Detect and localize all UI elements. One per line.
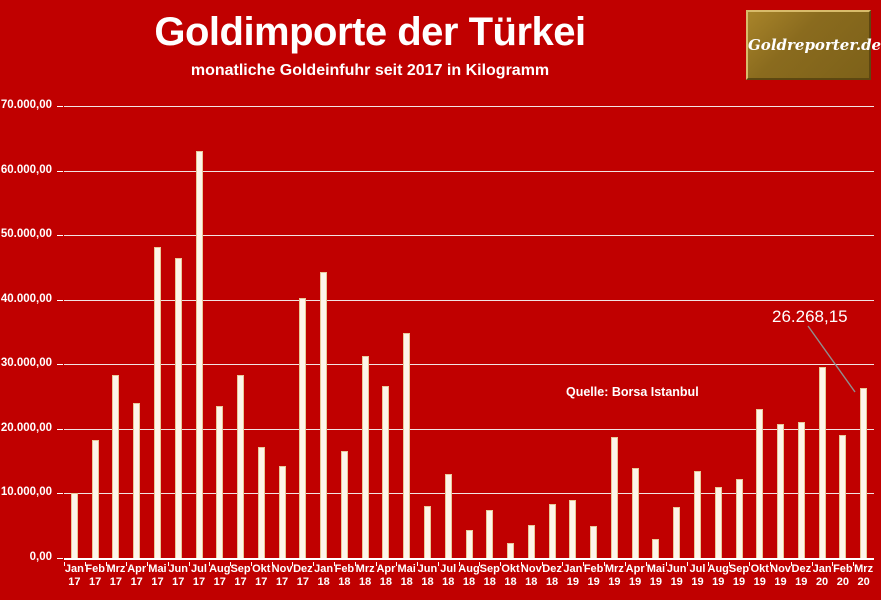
bar	[279, 466, 286, 558]
bar	[507, 543, 514, 558]
y-axis-tick	[57, 493, 63, 494]
x-axis-line	[64, 558, 874, 560]
bar	[549, 504, 556, 558]
bar	[569, 500, 576, 558]
y-axis-tick-label: 30.000,00	[0, 357, 52, 369]
gridline	[64, 364, 874, 365]
bar	[486, 510, 493, 558]
x-label-month: Mrz	[850, 563, 878, 576]
bar	[632, 468, 639, 558]
bar	[424, 506, 431, 558]
y-axis-tick	[57, 429, 63, 430]
bar	[839, 435, 846, 558]
bar	[258, 447, 265, 558]
bar	[216, 406, 223, 558]
bar	[756, 409, 763, 558]
bar	[362, 356, 369, 558]
gridline	[64, 171, 874, 172]
bar	[133, 403, 140, 558]
bar	[528, 525, 535, 558]
bar	[92, 440, 99, 558]
y-axis-tick-label: 70.000,00	[0, 99, 52, 111]
bar	[590, 526, 597, 558]
bar	[382, 386, 389, 558]
x-label-year: 20	[850, 576, 878, 589]
y-axis-tick	[57, 171, 63, 172]
bar	[777, 424, 784, 558]
plot-area: 70.000,0060.000,0050.000,0040.000,0030.0…	[64, 100, 874, 562]
page-title: Goldimporte der Türkei	[0, 8, 740, 56]
bar	[819, 367, 826, 558]
bar	[154, 247, 161, 558]
bar	[112, 375, 119, 558]
gridline	[64, 493, 874, 494]
gridline	[64, 106, 874, 107]
bar	[798, 422, 805, 558]
bar	[175, 258, 182, 558]
logo-wordmark: Goldreporter.de	[748, 36, 873, 54]
x-axis: Jan17Feb17Mrz17Apr17Mai17Jun17Jul17Aug17…	[64, 563, 874, 600]
y-axis-tick-label: 20.000,00	[0, 422, 52, 434]
source-note: Quelle: Borsa Istanbul	[566, 385, 699, 399]
y-axis-tick-label: 40.000,00	[0, 293, 52, 305]
bar	[237, 375, 244, 558]
bar	[71, 493, 78, 558]
bar	[652, 539, 659, 558]
bar	[694, 471, 701, 558]
last-value-callout: 26.268,15	[772, 307, 848, 327]
y-axis-tick-label: 0,00	[0, 551, 52, 563]
y-axis-tick	[57, 364, 63, 365]
bar	[299, 298, 306, 558]
chart-subtitle: monatliche Goldeinfuhr seit 2017 in Kilo…	[0, 62, 740, 80]
y-axis-tick	[57, 558, 63, 559]
bar	[445, 474, 452, 558]
bar	[196, 151, 203, 558]
x-axis-tick-label: Mrz20	[850, 563, 878, 589]
y-axis-tick	[57, 106, 63, 107]
gridline	[64, 429, 874, 430]
y-axis-tick-label: 10.000,00	[0, 486, 52, 498]
y-axis-tick-label: 60.000,00	[0, 164, 52, 176]
bar	[611, 437, 618, 558]
bar	[341, 451, 348, 558]
bar	[403, 333, 410, 558]
bar	[466, 530, 473, 558]
gridline	[64, 300, 874, 301]
gridline	[64, 235, 874, 236]
bar	[673, 507, 680, 558]
y-axis-tick	[57, 235, 63, 236]
bar	[320, 272, 327, 558]
y-axis-tick-label: 50.000,00	[0, 228, 52, 240]
goldreporter-logo: Goldreporter.de	[746, 10, 871, 80]
bar	[736, 479, 743, 558]
bar	[860, 388, 867, 558]
bar	[715, 487, 722, 558]
y-axis-tick	[57, 300, 63, 301]
chart-root: Goldimporte der Türkei monatliche Goldei…	[0, 0, 881, 600]
